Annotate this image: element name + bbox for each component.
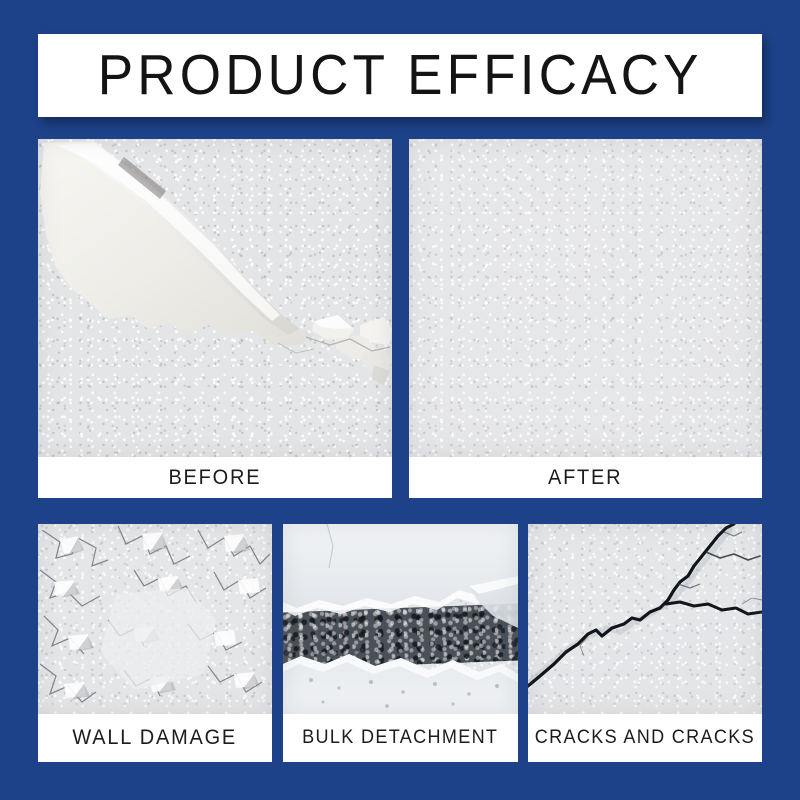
after-caption-label: AFTER (548, 466, 622, 490)
crack-line-icon (528, 524, 762, 714)
title-banner: PRODUCT EFFICACY (38, 34, 762, 117)
before-photo (38, 139, 392, 457)
peeling-paint-flap-icon (38, 139, 392, 457)
bulk-detachment-photo (283, 524, 518, 714)
before-image-panel (38, 139, 392, 457)
after-image-panel (409, 139, 762, 457)
problem-caption-bar-cracks: CRACKS AND CRACKS (528, 714, 762, 762)
problem-caption-bar-wall-damage: WALL DAMAGE (38, 714, 272, 762)
problem-caption-label: CRACKS AND CRACKS (535, 727, 755, 749)
problem-caption-label: BULK DETACHMENT (302, 727, 498, 749)
stucco-texture (409, 139, 762, 457)
before-caption-bar: BEFORE (38, 457, 392, 498)
after-caption-bar: AFTER (409, 457, 762, 498)
page-title: PRODUCT EFFICACY (98, 47, 703, 104)
problem-caption-label: WALL DAMAGE (73, 726, 238, 750)
product-efficacy-poster: PRODUCT EFFICACY (0, 0, 800, 800)
after-photo (409, 139, 762, 457)
cracks-photo (528, 524, 762, 714)
problem-image-panel-cracks (528, 524, 762, 714)
paint-flakes-icon (38, 524, 272, 714)
before-caption-label: BEFORE (169, 466, 262, 490)
problem-image-panel-bulk-detachment (283, 524, 518, 714)
problem-image-panel-wall-damage (38, 524, 272, 714)
problem-caption-bar-bulk-detachment: BULK DETACHMENT (283, 714, 518, 762)
wall-damage-photo (38, 524, 272, 714)
detached-plaster-edge-icon (283, 524, 518, 714)
